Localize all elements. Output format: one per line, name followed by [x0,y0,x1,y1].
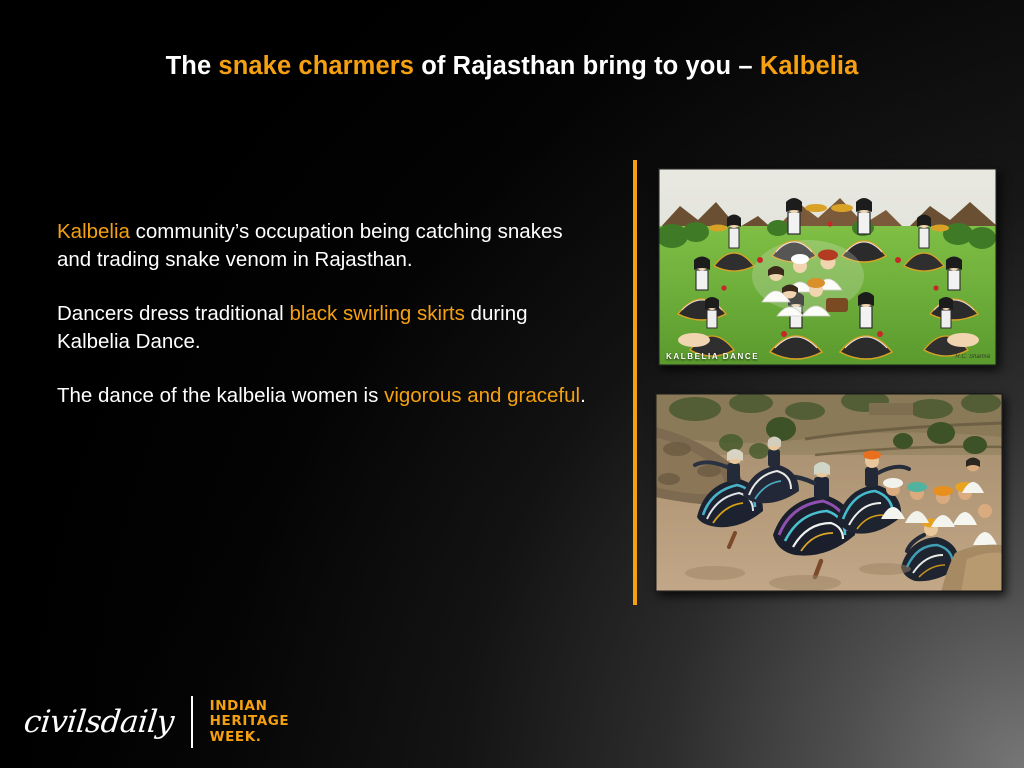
painting-artwork [658,168,997,366]
footer-logo: civilsdaily INDIAN HERITAGE WEEK. [24,694,289,750]
slide-title: The snake charmers of Rajasthan bring to… [0,52,1024,81]
paragraph-3-part-1: The dance of the kalbelia women is [57,384,384,407]
title-segment-plain-1: The [166,52,219,80]
title-segment-accent-1: snake charmers [218,52,414,80]
title-segment-accent-2: Kalbelia [760,52,859,80]
paragraph-1-part-1: Kalbelia [57,220,130,243]
title-segment-plain-2: of Rajasthan bring to you – [414,52,760,80]
body-text-block: Kalbelia community’s occupation being ca… [57,218,587,410]
orange-accent-bar [633,160,637,605]
paragraph-2-part-2: black swirling skirts [289,302,464,325]
paragraph-3: The dance of the kalbelia women is vigor… [57,382,587,410]
heritage-line-3: WEEK. [210,730,290,746]
heritage-line-2: HERITAGE [210,714,290,730]
civilsdaily-wordmark: civilsdaily [22,707,192,738]
indian-heritage-week-label: INDIAN HERITAGE WEEK. [193,699,290,746]
painting-signature: R.C. Sharma [955,354,990,360]
dancers-photograph [655,393,1003,592]
paragraph-1-part-2: community’s occupation being catching sn… [57,220,563,271]
kalbelia-dancers-photo[interactable] [655,393,1003,592]
kalbelia-dance-painting[interactable]: KALBELIA DANCE R.C. Sharma [658,168,997,366]
paragraph-1: Kalbelia community’s occupation being ca… [57,218,587,274]
paragraph-2-part-1: Dancers dress traditional [57,302,289,325]
presentation-slide: The snake charmers of Rajasthan bring to… [0,0,1024,768]
paragraph-2: Dancers dress traditional black swirling… [57,300,587,356]
paragraph-3-part-3: . [580,384,586,407]
painting-caption: KALBELIA DANCE [666,352,759,361]
paragraph-3-part-2: vigorous and graceful [384,384,580,407]
heritage-line-1: INDIAN [210,699,290,715]
